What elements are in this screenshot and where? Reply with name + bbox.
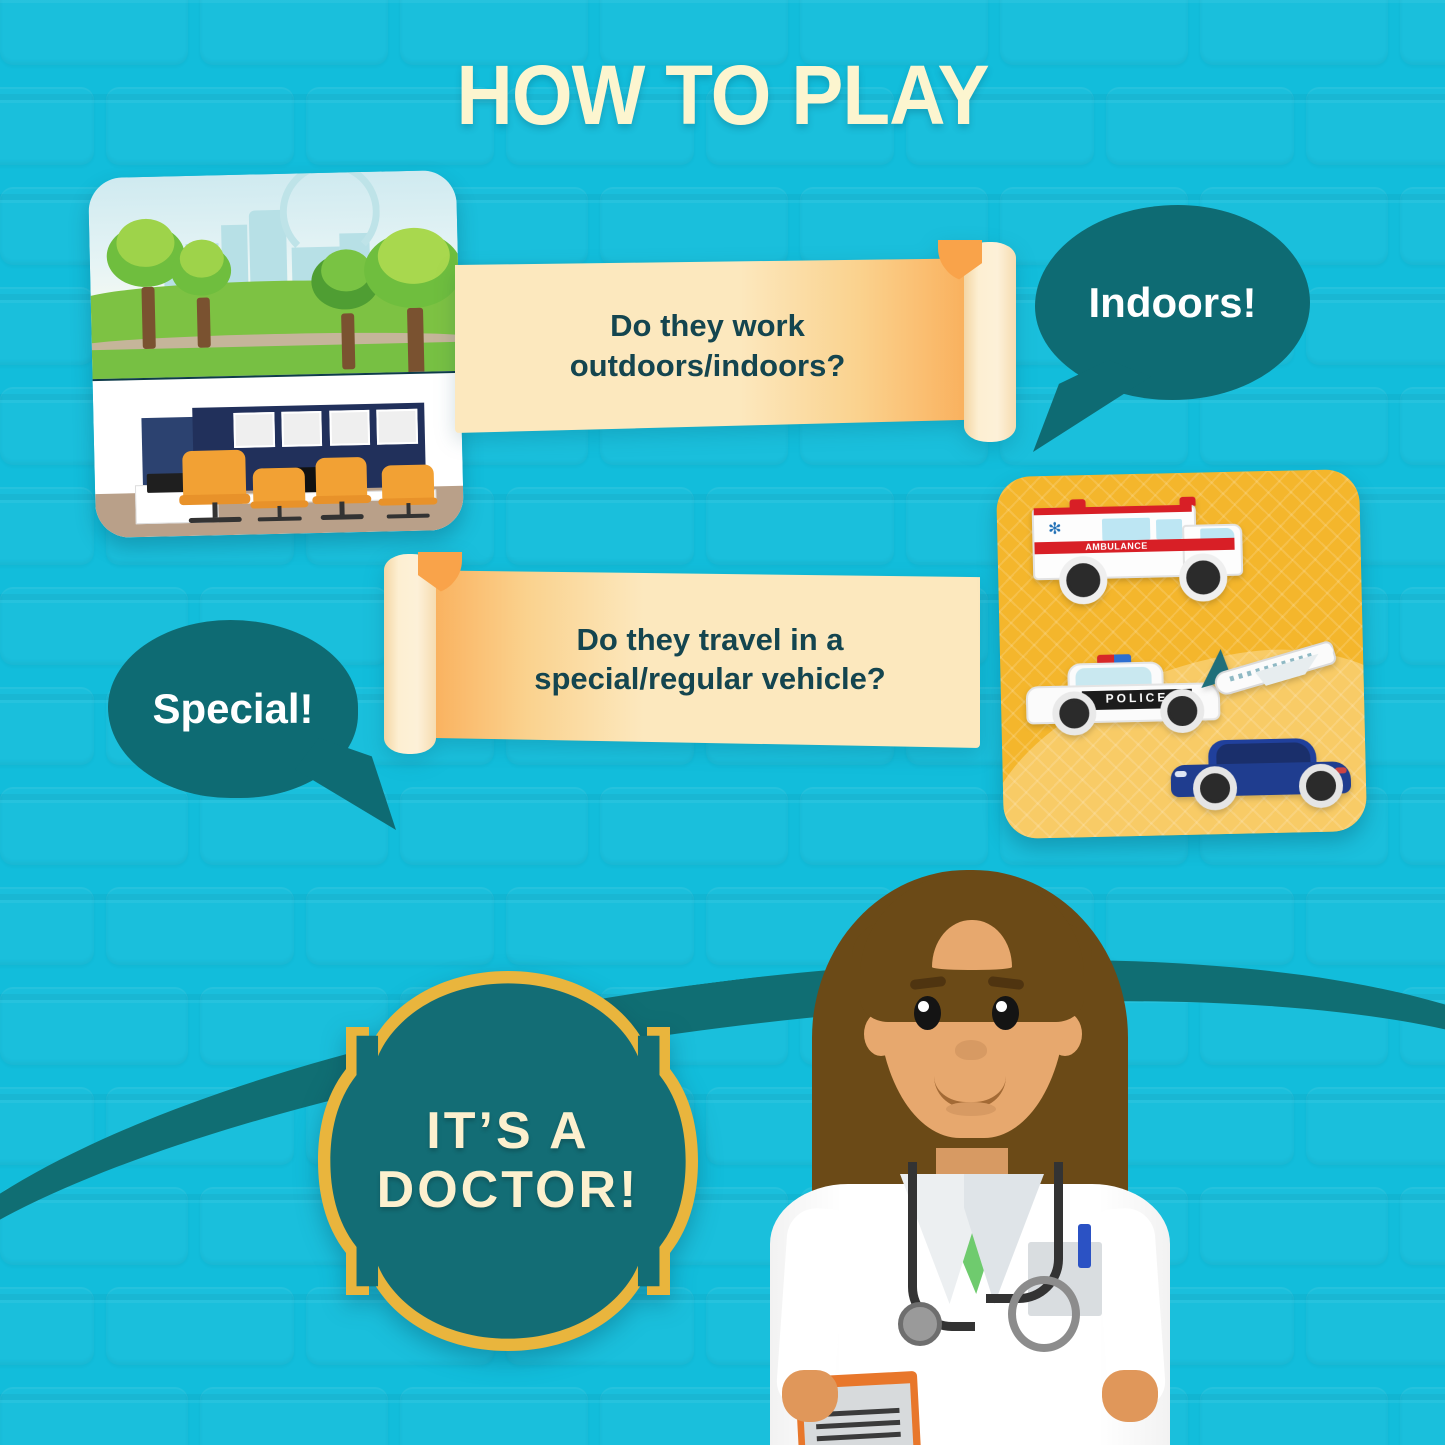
brick-row <box>0 1080 1445 1180</box>
brick-tile <box>600 787 788 865</box>
scroll-roll-left <box>384 554 436 754</box>
brick-tile <box>106 1287 294 1365</box>
brick-tile <box>0 1387 188 1445</box>
wall-frame-icon <box>281 411 323 447</box>
brick-row <box>0 1180 1445 1280</box>
question-banner-1: Do they work outdoors/indoors? <box>455 258 1000 433</box>
question-banner-2-text: Do they travel in a special/regular vehi… <box>400 570 980 748</box>
answer-bubble-indoors-text: Indoors! <box>1089 279 1257 327</box>
brick-tile <box>1200 1187 1388 1265</box>
question-2-line-2: special/regular vehicle? <box>534 661 886 696</box>
brick-row <box>0 1380 1445 1445</box>
office-chair-icon <box>253 468 306 522</box>
brick-tile <box>1306 887 1445 965</box>
doctor-eye-right <box>992 996 1019 1030</box>
brick-tile <box>600 187 788 265</box>
brick-tile <box>1400 987 1445 1065</box>
brick-tile <box>1400 187 1445 265</box>
brick-tile <box>306 887 494 965</box>
reveal-line-2: DOCTOR! <box>377 1161 640 1220</box>
brick-tile <box>400 787 588 865</box>
brick-tile <box>200 1387 388 1445</box>
brick-tile <box>0 287 94 365</box>
brick-tile <box>1400 1387 1445 1445</box>
brick-tile <box>0 987 188 1065</box>
brick-tile <box>0 1287 94 1365</box>
doctor-chin <box>946 1102 996 1116</box>
tree-icon <box>362 227 461 381</box>
question-banner-1-text: Do they work outdoors/indoors? <box>455 258 1000 433</box>
doctor-hand-left <box>782 1370 838 1422</box>
brick-tile <box>106 887 294 965</box>
doctor-character <box>760 862 1180 1445</box>
answer-bubble-indoors: Indoors! <box>1035 205 1310 400</box>
question-1-line-2: outdoors/indoors? <box>570 348 846 383</box>
answer-bubble-special-text: Special! <box>152 685 313 733</box>
wall-frame-icon <box>329 410 371 446</box>
ambulance-icon: ✻ AMBULANCE <box>1031 494 1243 604</box>
brick-tile <box>1306 287 1445 365</box>
office-chair-icon <box>183 450 247 523</box>
brick-tile <box>0 487 94 565</box>
wall-frame-icon <box>377 409 419 445</box>
brick-row <box>0 1280 1445 1380</box>
stethoscope-loop <box>1008 1276 1080 1352</box>
brick-tile <box>506 487 694 565</box>
office-chair-icon <box>315 457 368 521</box>
brick-row <box>0 980 1445 1080</box>
brick-tile <box>1200 387 1388 465</box>
office-scene <box>93 371 465 538</box>
pen-icon <box>1078 1224 1091 1268</box>
office-chair-icon <box>382 465 435 519</box>
star-of-life-icon: ✻ <box>1048 522 1062 538</box>
brick-tile <box>0 787 188 865</box>
answer-bubble-special: Special! <box>108 620 358 798</box>
tree-icon <box>170 239 234 348</box>
wall-frame-icon <box>233 412 275 448</box>
ambulance-label: AMBULANCE <box>1070 540 1162 552</box>
brick-tile <box>1306 1087 1445 1165</box>
brick-tile <box>506 887 694 965</box>
doctor-nose <box>955 1040 987 1060</box>
brick-tile <box>1400 1187 1445 1265</box>
doctor-hand-right <box>1102 1370 1158 1422</box>
page-title: HOW TO PLAY <box>51 47 1395 144</box>
brick-tile <box>1400 387 1445 465</box>
brick-tile <box>1400 587 1445 665</box>
brick-tile <box>1200 1387 1388 1445</box>
question-banner-2: Do they travel in a special/regular vehi… <box>400 570 980 748</box>
brick-tile <box>1200 987 1388 1065</box>
brick-tile <box>0 1187 188 1265</box>
question-2-line-1: Do they travel in a <box>576 622 843 657</box>
brick-tile <box>1306 1287 1445 1365</box>
brick-tile <box>800 787 988 865</box>
brick-tile <box>400 1387 588 1445</box>
question-1-line-1: Do they work <box>610 308 805 343</box>
reveal-badge: IT’S A DOCTOR! <box>312 965 704 1357</box>
police-car-icon: POLICE <box>1025 660 1217 736</box>
park-scene <box>88 170 461 383</box>
doctor-eye-left <box>914 996 941 1030</box>
blue-car-icon <box>1170 737 1352 811</box>
brick-row <box>0 880 1445 980</box>
outdoors-indoors-card[interactable] <box>88 170 464 538</box>
reveal-line-1: IT’S A <box>426 1102 589 1161</box>
brick-tile <box>106 1087 294 1165</box>
brick-tile <box>0 687 94 765</box>
brick-tile <box>706 487 894 565</box>
brick-tile <box>1400 787 1445 865</box>
vehicles-card[interactable]: ✻ AMBULANCE POLICE <box>996 469 1367 839</box>
brick-tile <box>0 1087 94 1165</box>
scroll-roll-right <box>964 242 1016 442</box>
stethoscope-bell-icon <box>898 1302 942 1346</box>
brick-tile <box>1400 0 1445 65</box>
poster-canvas: HOW TO PLAY <box>0 0 1445 1445</box>
brick-tile <box>0 887 94 965</box>
